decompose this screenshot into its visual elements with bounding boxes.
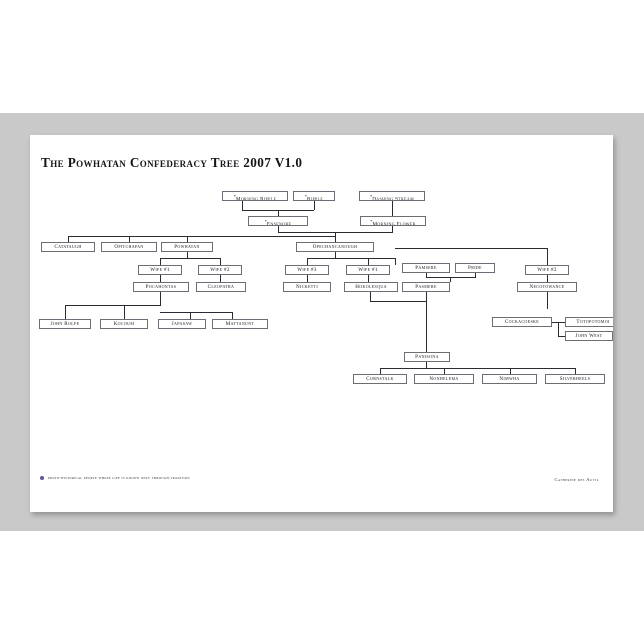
connector-line: [547, 292, 548, 309]
connector-line: [65, 305, 66, 319]
node-catataugh[interactable]: Catataugh: [41, 242, 95, 252]
connector-line: [547, 248, 548, 265]
connector-line: [314, 201, 315, 210]
connector-line: [392, 201, 393, 217]
node-wife-2-powhatan[interactable]: Wife #2: [198, 265, 242, 275]
page-title: The Powhatan Confederacy Tree 2007 V1.0: [41, 155, 302, 171]
poster-canvas: The Powhatan Confederacy Tree 2007 V1.0 …: [30, 135, 613, 512]
node-panisona[interactable]: Panisona: [404, 352, 450, 362]
node-cockacoeske[interactable]: Cockacoeske: [492, 317, 552, 327]
node-morning-ripple[interactable]: *Morning Ripple: [222, 191, 288, 201]
node-morning-flower[interactable]: *Morning Flower: [360, 216, 426, 226]
node-ripple[interactable]: *Ripple: [293, 191, 335, 201]
connector-line: [160, 292, 161, 306]
connector-sibling-bus: [65, 305, 160, 306]
connector-line: [426, 292, 427, 302]
node-japasaw[interactable]: Japasaw: [158, 319, 206, 329]
node-dashing-stream[interactable]: *Dashing Stream: [359, 191, 425, 201]
node-opechancanough[interactable]: Opechancanough: [296, 242, 374, 252]
node-john-rolfe[interactable]: John Rolfe: [39, 319, 91, 329]
connector-line: [558, 322, 565, 323]
node-john-west[interactable]: John West: [565, 331, 613, 341]
node-cornstalk[interactable]: Cornstalk: [353, 374, 407, 384]
proto-legend-icon: [40, 476, 44, 480]
node-wife-1-powhatan[interactable]: Wife #1: [138, 265, 182, 275]
connector-line: [124, 305, 125, 319]
connector-line: [232, 312, 233, 319]
connector-line: [370, 301, 426, 302]
connector-line: [307, 258, 308, 265]
connector-line: [395, 258, 396, 265]
connector-line: [307, 258, 395, 259]
connector-sibling-bus: [160, 312, 232, 313]
connector-line: [220, 258, 221, 265]
connector-line: [242, 201, 243, 210]
connector-line: [558, 322, 559, 336]
connector-sibling-bus: [380, 368, 575, 369]
node-opitchapan[interactable]: Opitchapan: [101, 242, 157, 252]
connector-line: [475, 273, 476, 278]
node-pocahontas[interactable]: Pocahontas: [133, 282, 189, 292]
node-pride[interactable]: Pride: [455, 263, 495, 273]
node-necotowance[interactable]: Necotowance: [517, 282, 577, 292]
node-cleopatra[interactable]: Cleopatra: [196, 282, 246, 292]
legend-footnote: proto-historical people whose life is kn…: [40, 475, 190, 480]
connector-line: [395, 248, 547, 249]
node-wife-1-opechancanough[interactable]: Wife #1: [346, 265, 390, 275]
node-totopotomoi[interactable]: Totopotomoi: [565, 317, 613, 327]
node-hokolesqua[interactable]: Hokolesqua: [344, 282, 398, 292]
connector-line: [370, 292, 371, 302]
author-signature: Catherine des Auvil: [555, 477, 599, 482]
node-nimwha[interactable]: Nimwha: [482, 374, 537, 384]
connector-line: [558, 336, 565, 337]
node-pasmere[interactable]: Pasmere: [402, 282, 450, 292]
node-pamsere[interactable]: Pamsere: [402, 263, 450, 273]
node-wife-2-opechancanough[interactable]: Wife #2: [525, 265, 569, 275]
node-nonhelema[interactable]: Nonhelema: [414, 374, 474, 384]
node-kocoum[interactable]: Kocoum: [100, 319, 148, 329]
connector-line: [426, 301, 427, 352]
node-powhatan[interactable]: Powhatan: [161, 242, 213, 252]
connector-line: [368, 258, 369, 265]
node-wife-3-opechancanough[interactable]: Wife #3: [285, 265, 329, 275]
connector-line: [160, 258, 161, 265]
connector-sibling-bus: [68, 236, 335, 237]
node-mattanunt[interactable]: Mattanunt: [212, 319, 268, 329]
node-silverheels[interactable]: Silverheels: [545, 374, 605, 384]
connector-line: [160, 258, 220, 259]
node-ensenore[interactable]: *Ensenore: [248, 216, 308, 226]
connector-line: [450, 277, 451, 282]
connector-line: [392, 226, 393, 233]
connector-line: [190, 312, 191, 319]
screenshot-stage: The Powhatan Confederacy Tree 2007 V1.0 …: [0, 0, 644, 644]
node-nicketti[interactable]: Nicketti: [283, 282, 331, 292]
